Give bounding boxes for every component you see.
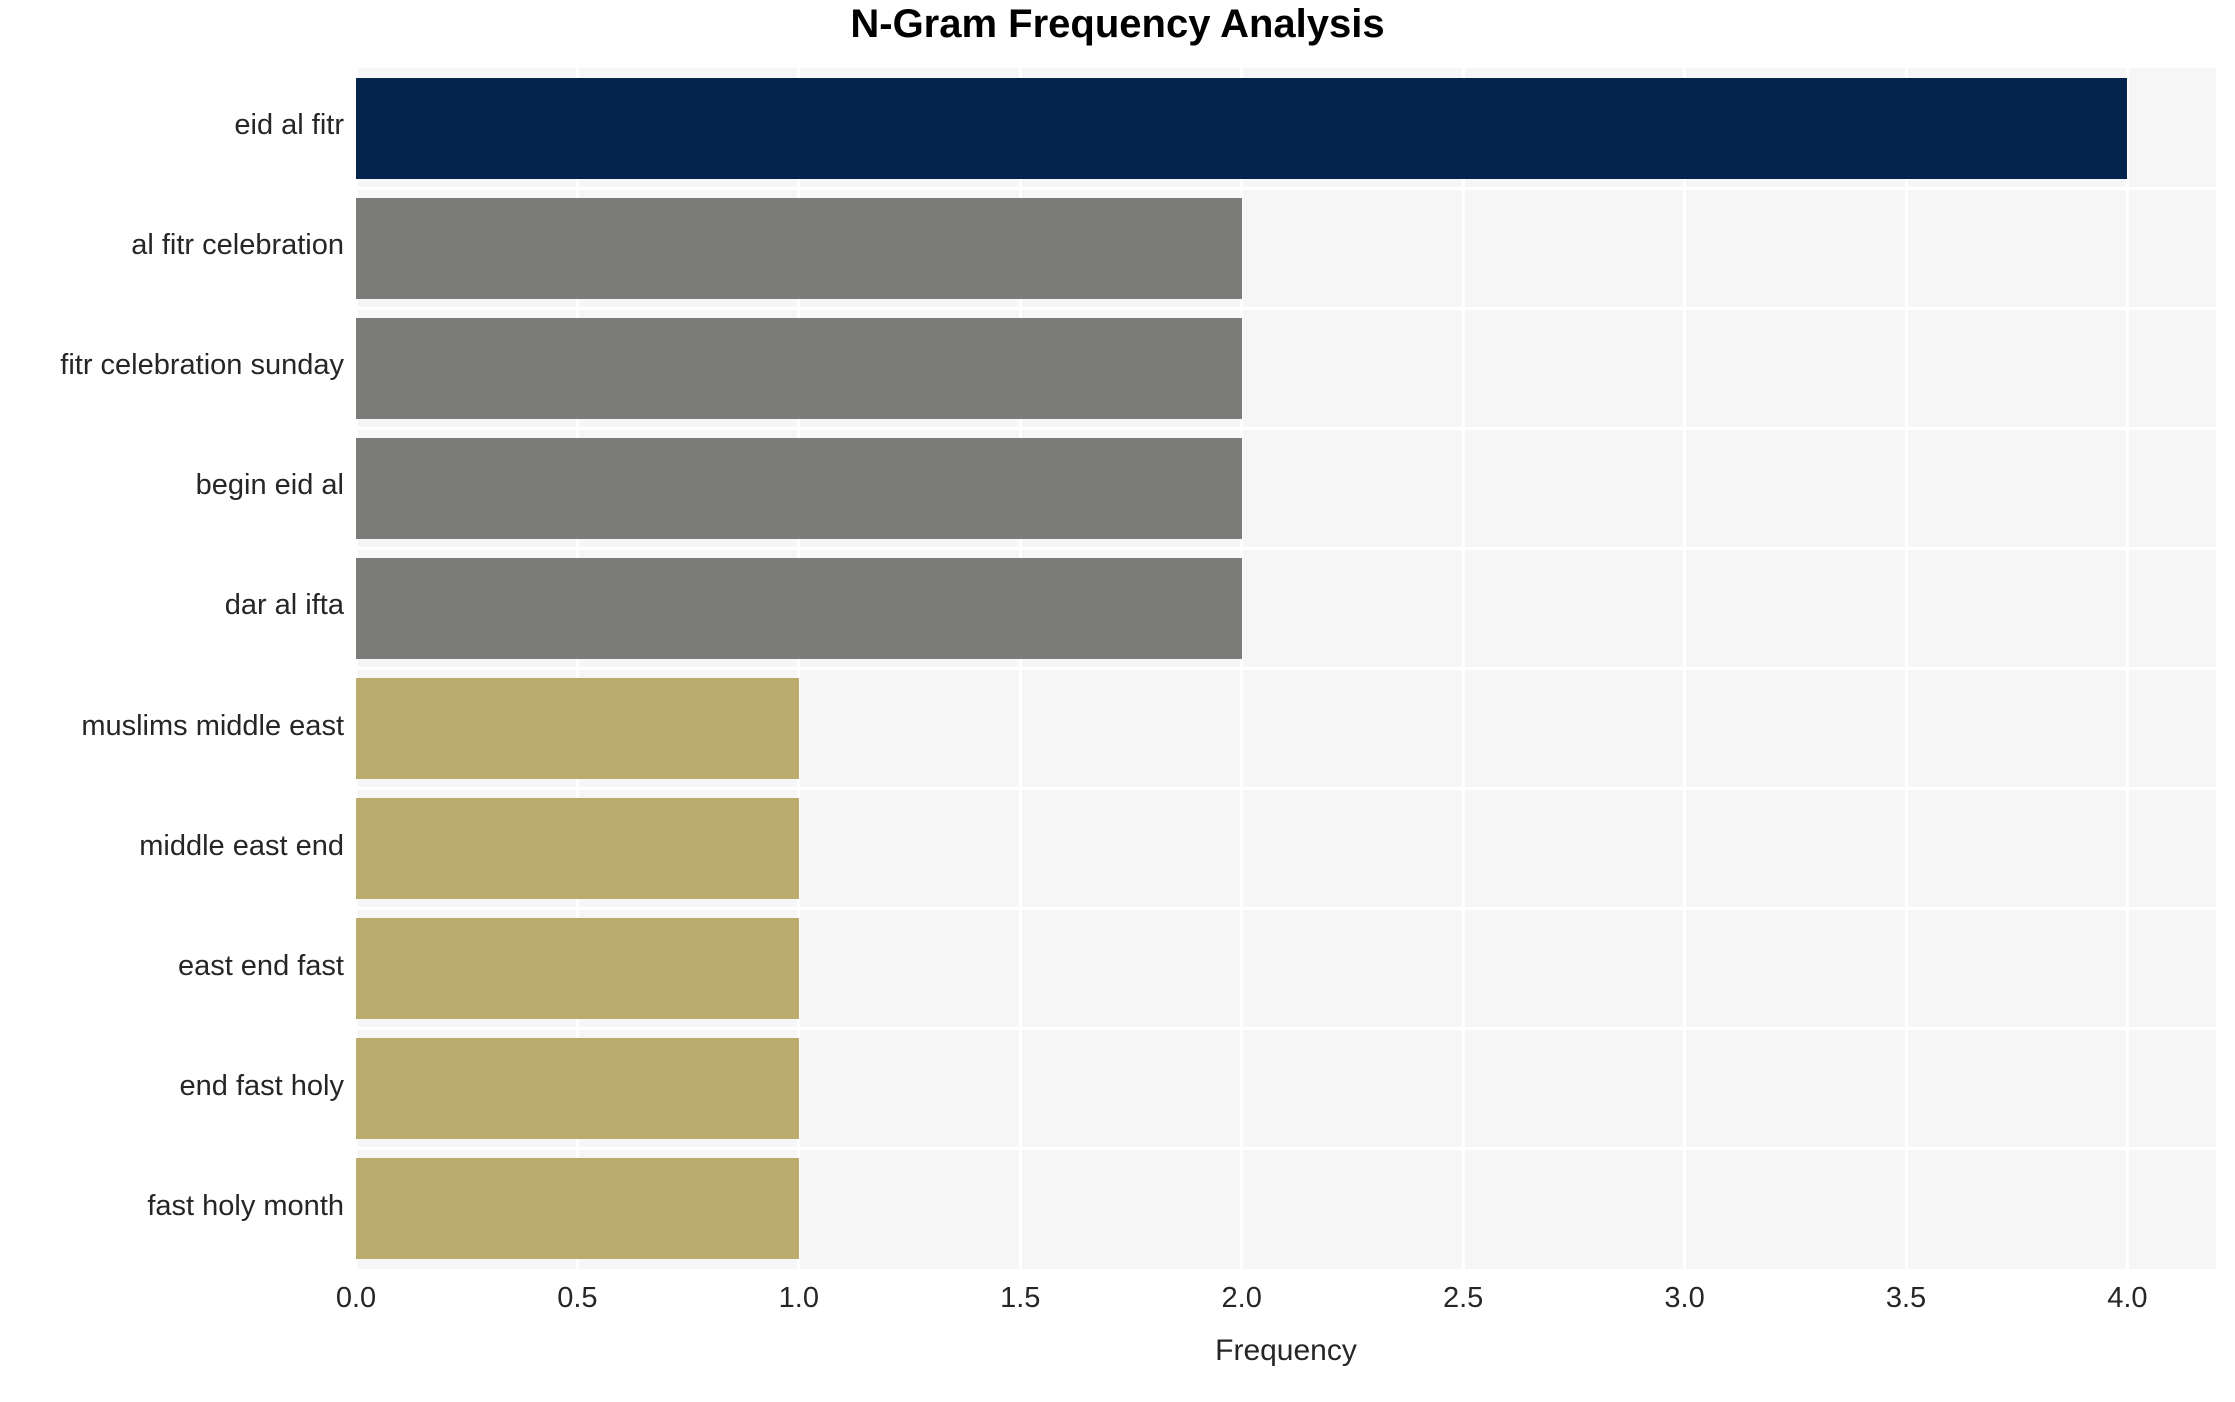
y-axis-tick-label: muslims middle east: [0, 710, 356, 743]
y-axis-tick-label: dar al ifta: [0, 589, 356, 622]
y-axis-tick-label: al fitr celebration: [0, 229, 356, 262]
category-separator: [356, 187, 2216, 190]
y-axis-tick-label: end fast holy: [0, 1070, 356, 1103]
category-separator: [356, 907, 2216, 910]
x-axis-tick-label: 4.0: [2067, 1282, 2187, 1315]
plot-area: [356, 68, 2216, 1269]
x-axis-tick-label: 2.0: [1182, 1282, 1302, 1315]
category-separator: [356, 1027, 2216, 1030]
y-axis-tick-label: fast holy month: [0, 1190, 356, 1223]
category-separator: [356, 307, 2216, 310]
x-axis-tick-label: 0.5: [517, 1282, 637, 1315]
bar[interactable]: [356, 1158, 799, 1259]
category-separator: [356, 547, 2216, 550]
bar[interactable]: [356, 318, 1242, 419]
bar[interactable]: [356, 1038, 799, 1139]
x-axis-tick-label: 1.0: [739, 1282, 859, 1315]
x-axis-tick-labels: 0.00.51.01.52.02.53.03.54.0: [0, 1282, 2235, 1326]
category-separator: [356, 667, 2216, 670]
bar[interactable]: [356, 198, 1242, 299]
y-axis-tick-label: east end fast: [0, 950, 356, 983]
category-separator: [356, 787, 2216, 790]
x-axis-title: Frequency: [356, 1334, 2216, 1368]
bar[interactable]: [356, 918, 799, 1019]
y-axis-tick-label: eid al fitr: [0, 109, 356, 142]
category-separator: [356, 1147, 2216, 1150]
x-axis-tick-label: 3.0: [1625, 1282, 1745, 1315]
y-axis-tick-label: middle east end: [0, 830, 356, 863]
x-axis-tick-label: 3.5: [1846, 1282, 1966, 1315]
bar[interactable]: [356, 798, 799, 899]
bar[interactable]: [356, 678, 799, 779]
bar[interactable]: [356, 558, 1242, 659]
chart-figure: N-Gram Frequency Analysis eid al fitral …: [0, 0, 2235, 1402]
x-axis-tick-label: 0.0: [296, 1282, 416, 1315]
bar[interactable]: [356, 438, 1242, 539]
x-axis-tick-label: 1.5: [960, 1282, 1080, 1315]
y-axis-tick-label: fitr celebration sunday: [0, 349, 356, 382]
y-axis-tick-labels: eid al fitral fitr celebrationfitr celeb…: [0, 0, 344, 1402]
y-axis-tick-label: begin eid al: [0, 469, 356, 502]
category-separator: [356, 427, 2216, 430]
x-axis-tick-label: 2.5: [1403, 1282, 1523, 1315]
bar[interactable]: [356, 78, 2127, 179]
